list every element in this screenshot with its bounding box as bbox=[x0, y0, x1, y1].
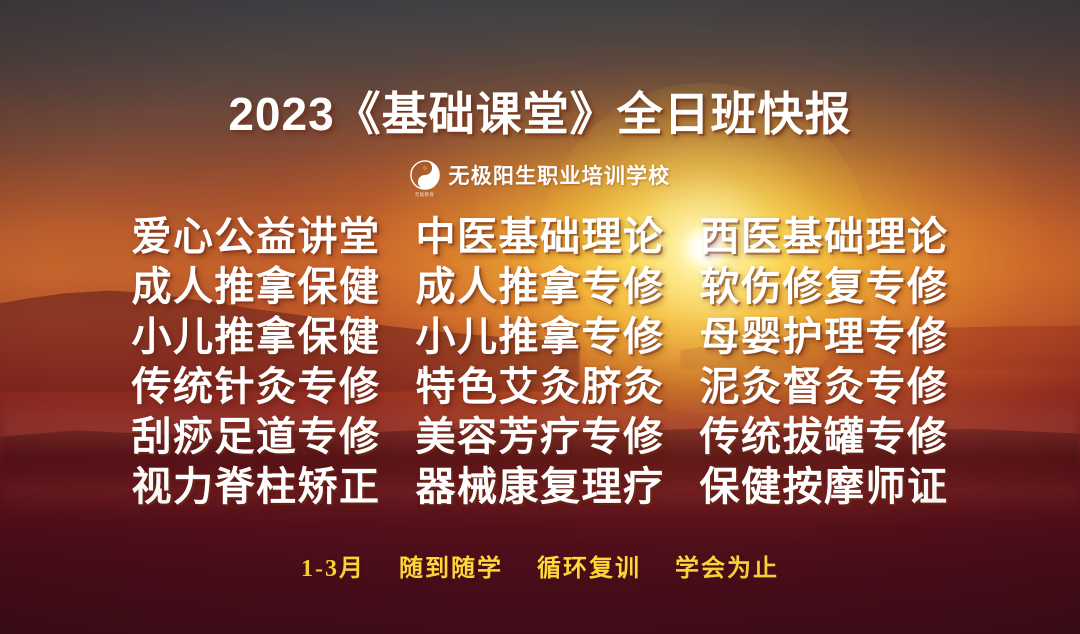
note-enroll: 随到随学 bbox=[399, 556, 503, 582]
school-brand: 无极教育 无极阳生职业培训学校 bbox=[410, 160, 671, 190]
course-item: 母婴护理专修 bbox=[693, 312, 955, 362]
course-item: 泥灸督灸专修 bbox=[693, 362, 955, 412]
course-item: 小儿推拿专修 bbox=[409, 312, 671, 362]
school-name: 无极阳生职业培训学校 bbox=[449, 160, 671, 190]
promo-poster: 2023《基础课堂》全日班快报 无极教育 无极阳生职业培训学校 爱心公益讲堂 中… bbox=[0, 0, 1080, 634]
course-item: 成人推拿保健 bbox=[125, 262, 387, 312]
enrollment-note: 1-3月 随到随学 循环复训 学会为止 bbox=[0, 548, 1080, 583]
course-item: 中医基础理论 bbox=[409, 212, 671, 262]
logo-subtext: 无极教育 bbox=[410, 193, 440, 198]
note-duration: 1-3月 bbox=[301, 556, 365, 582]
note-retrain: 循环复训 bbox=[537, 556, 641, 582]
course-item: 小儿推拿保健 bbox=[125, 312, 387, 362]
course-item: 特色艾灸脐灸 bbox=[409, 362, 671, 412]
poster-headline: 2023《基础课堂》全日班快报 bbox=[228, 78, 851, 144]
course-item: 传统拔罐专修 bbox=[693, 412, 955, 462]
course-item: 美容芳疗专修 bbox=[409, 412, 671, 462]
course-item: 视力脊柱矫正 bbox=[125, 462, 387, 512]
course-item: 爱心公益讲堂 bbox=[125, 212, 387, 262]
course-item: 刮痧足道专修 bbox=[125, 412, 387, 462]
note-guarantee: 学会为止 bbox=[675, 556, 779, 582]
course-item: 软伤修复专修 bbox=[693, 262, 955, 312]
course-item: 保健按摩师证 bbox=[693, 462, 955, 512]
course-grid: 爱心公益讲堂 中医基础理论 西医基础理论 成人推拿保健 成人推拿专修 软伤修复专… bbox=[125, 212, 955, 512]
poster-content: 2023《基础课堂》全日班快报 无极教育 无极阳生职业培训学校 爱心公益讲堂 中… bbox=[0, 0, 1080, 634]
course-item: 器械康复理疗 bbox=[409, 462, 671, 512]
course-item: 传统针灸专修 bbox=[125, 362, 387, 412]
course-item: 西医基础理论 bbox=[693, 212, 955, 262]
yin-yang-taiji-icon: 无极教育 bbox=[410, 160, 440, 190]
course-item: 成人推拿专修 bbox=[409, 262, 671, 312]
